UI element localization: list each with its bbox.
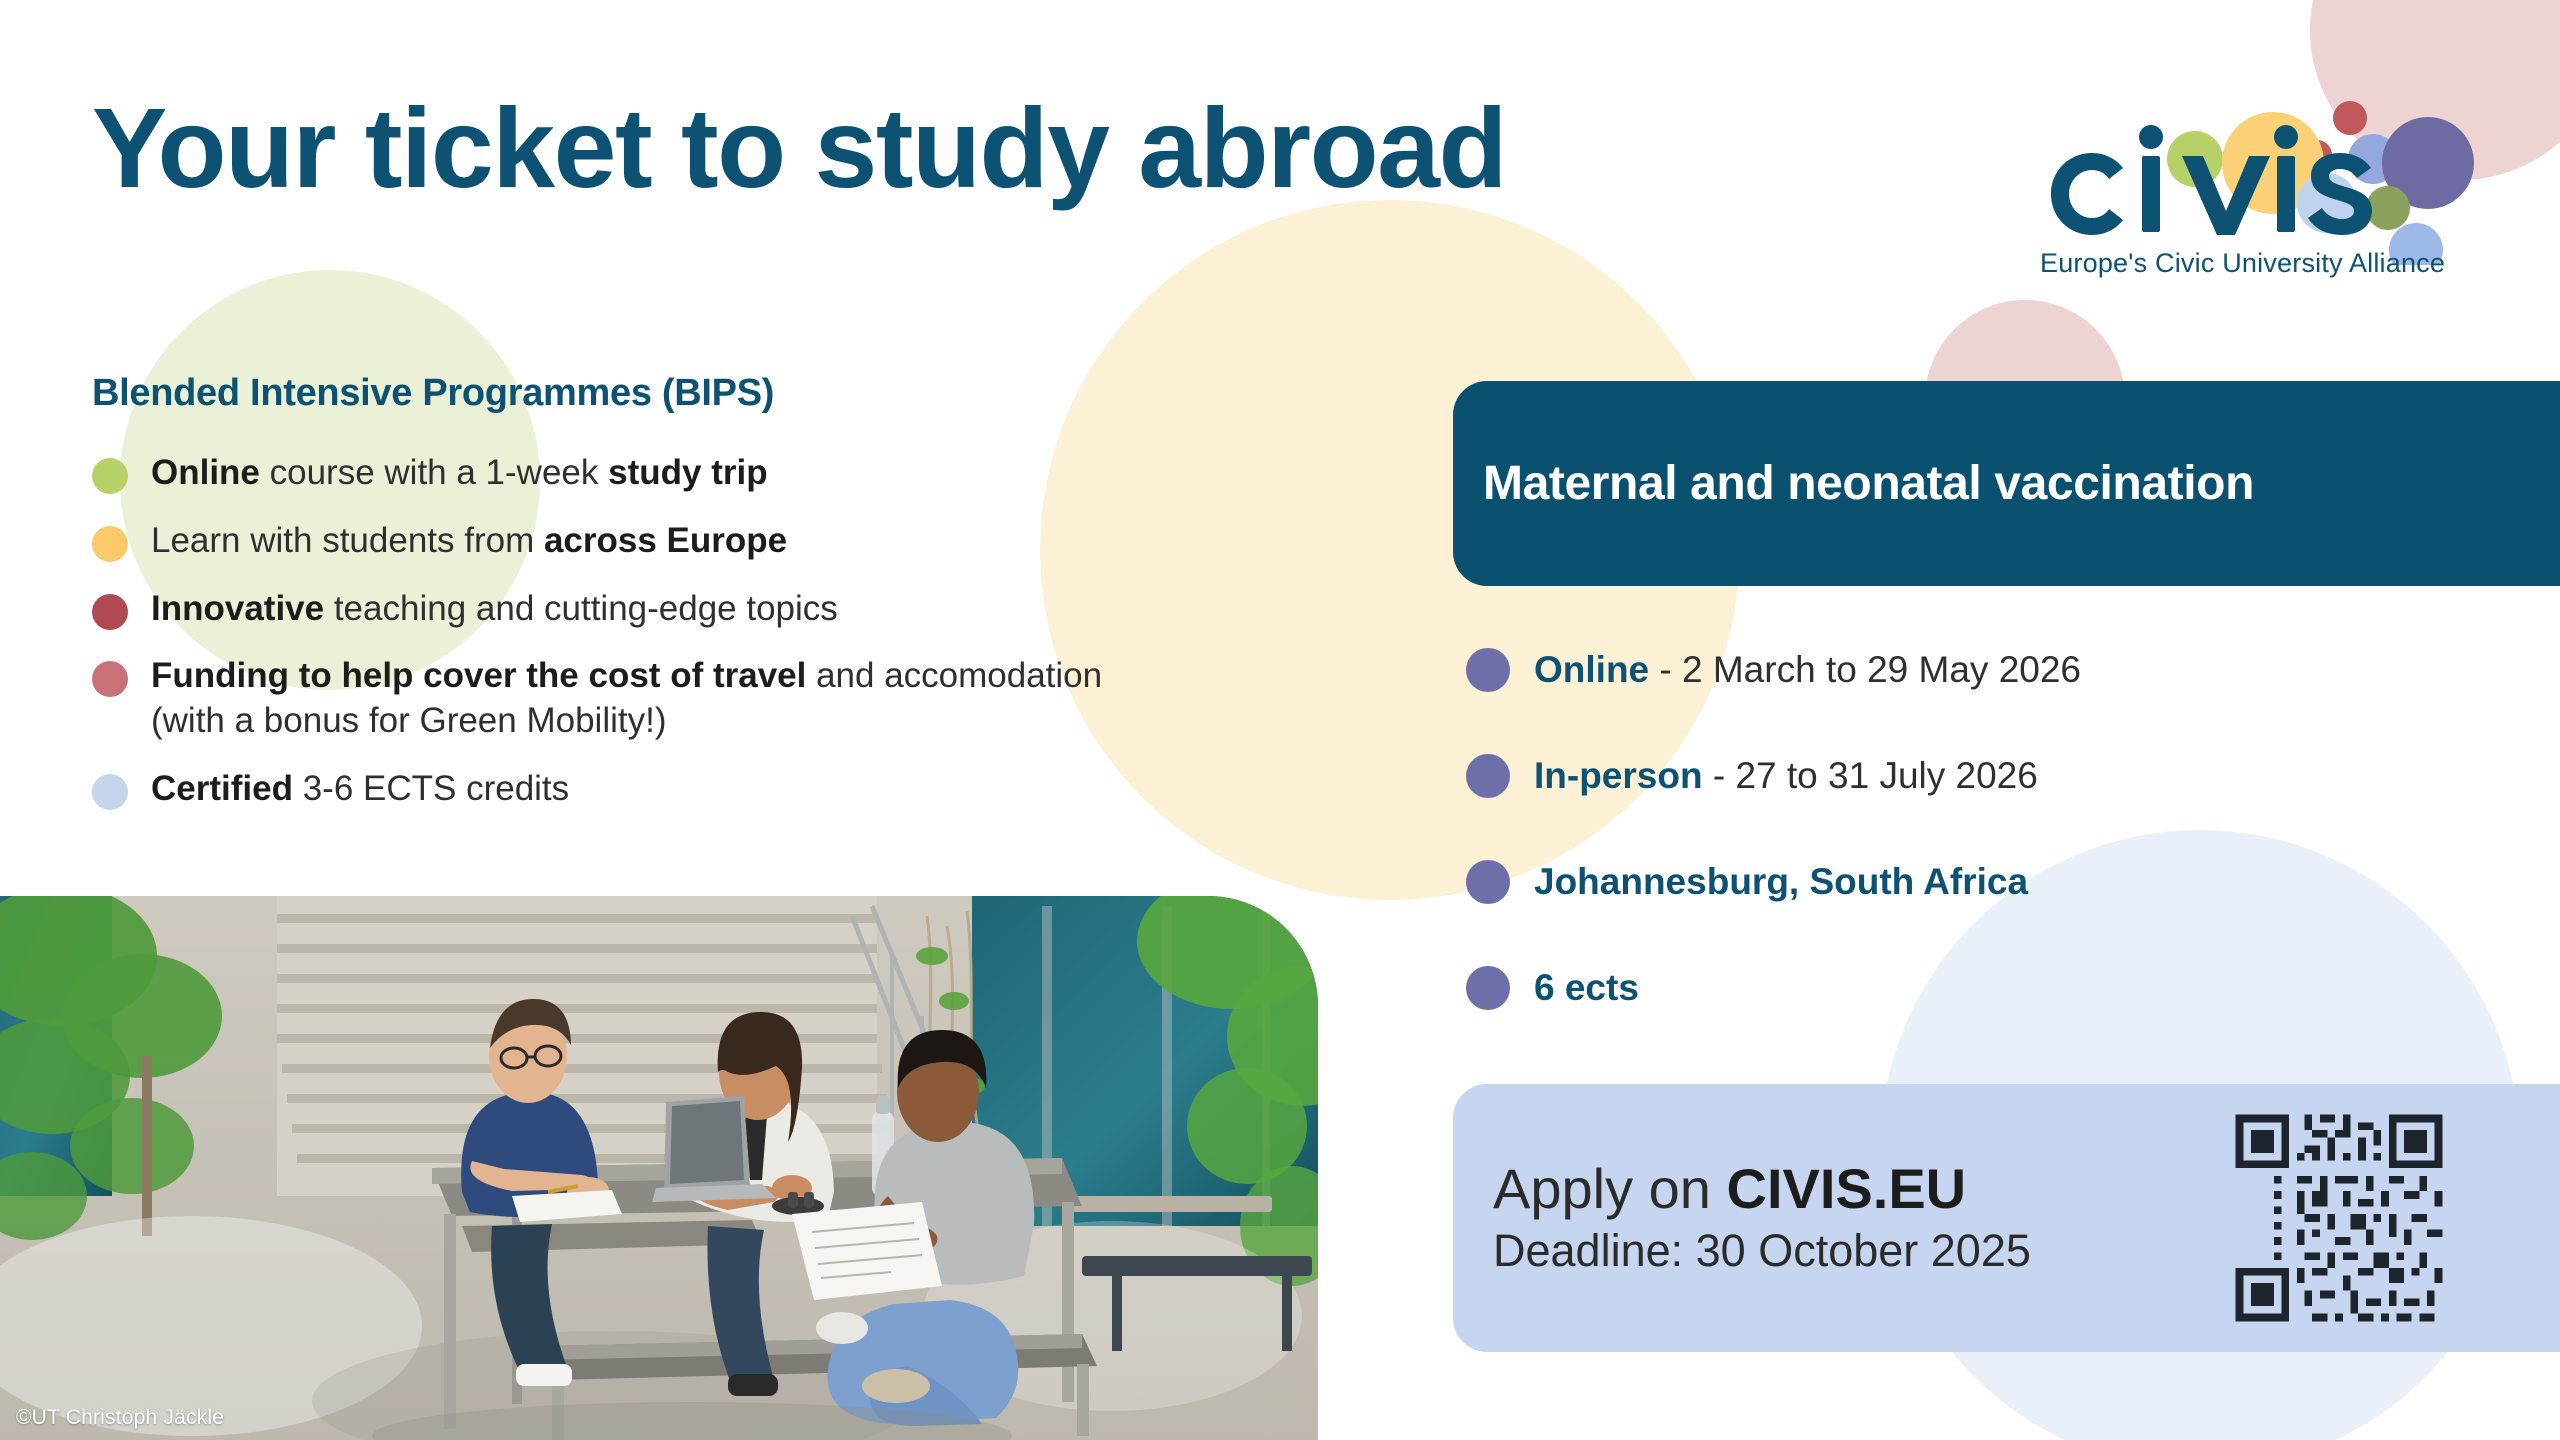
list-item: Learn with students from across Europe [92, 519, 1202, 564]
bips-item-text: Innovative teaching and cutting-edge top… [151, 587, 838, 632]
list-item: Certified 3-6 ECTS credits [92, 767, 1202, 812]
programme-title: Maternal and neonatal vaccination [1483, 456, 2254, 511]
bips-section: Blended Intensive Programmes (BIPS) Onli… [92, 372, 1202, 835]
apply-card[interactable]: Apply on CIVIS.EU Deadline: 30 October 2… [1453, 1084, 2560, 1352]
civis-logo [2030, 75, 2500, 265]
bullet-dot-lightblue [92, 774, 128, 810]
qr-code-icon[interactable] [2228, 1107, 2450, 1329]
programme-detail-text: In-person - 27 to 31 July 2026 [1534, 755, 2038, 798]
civis-tagline: Europe's Civic University Alliance [2040, 248, 2445, 279]
list-item: Innovative teaching and cutting-edge top… [92, 587, 1202, 632]
bullet-dot-purple [1466, 754, 1510, 798]
bips-item-text: Learn with students from across Europe [151, 519, 787, 564]
bullet-dot-rose [92, 661, 128, 697]
bips-list: Online course with a 1-week study trip L… [92, 451, 1202, 812]
apply-text-block: Apply on CIVIS.EU Deadline: 30 October 2… [1493, 1158, 2228, 1279]
bullet-dot-darkred [92, 594, 128, 630]
list-item: Funding to help cover the cost of travel… [92, 654, 1202, 744]
list-item: In-person - 27 to 31 July 2026 [1466, 754, 2516, 798]
students-photo: ©UT Christoph Jäckle [0, 896, 1318, 1440]
bips-item-text: Funding to help cover the cost of travel… [151, 654, 1151, 744]
list-item: Online - 2 March to 29 May 2026 [1466, 648, 2516, 692]
photo-credit: ©UT Christoph Jäckle [16, 1406, 224, 1430]
bips-item-text: Certified 3-6 ECTS credits [151, 767, 569, 812]
bullet-dot-purple [1466, 648, 1510, 692]
bullet-dot-green [92, 458, 128, 494]
list-item: Online course with a 1-week study trip [92, 451, 1202, 496]
list-item: Johannesburg, South Africa [1466, 860, 2516, 904]
apply-headline: Apply on CIVIS.EU [1493, 1158, 2228, 1221]
poster-canvas: Your ticket to study abroad [0, 0, 2560, 1440]
programme-detail-text: 6 ects [1534, 967, 1639, 1010]
bullet-dot-yellow [92, 526, 128, 562]
bips-item-text: Online course with a 1-week study trip [151, 451, 768, 496]
bullet-dot-purple [1466, 966, 1510, 1010]
list-item: 6 ects [1466, 966, 2516, 1010]
bips-title: Blended Intensive Programmes (BIPS) [92, 372, 1202, 415]
bullet-dot-purple [1466, 860, 1510, 904]
programme-detail-text: Online - 2 March to 29 May 2026 [1534, 649, 2081, 692]
programme-details-list: Online - 2 March to 29 May 2026 In-perso… [1466, 648, 2516, 1072]
programme-header: Maternal and neonatal vaccination [1453, 381, 2560, 586]
apply-deadline: Deadline: 30 October 2025 [1493, 1224, 2228, 1278]
programme-detail-text: Johannesburg, South Africa [1534, 861, 2028, 904]
page-title: Your ticket to study abroad [92, 92, 1506, 205]
